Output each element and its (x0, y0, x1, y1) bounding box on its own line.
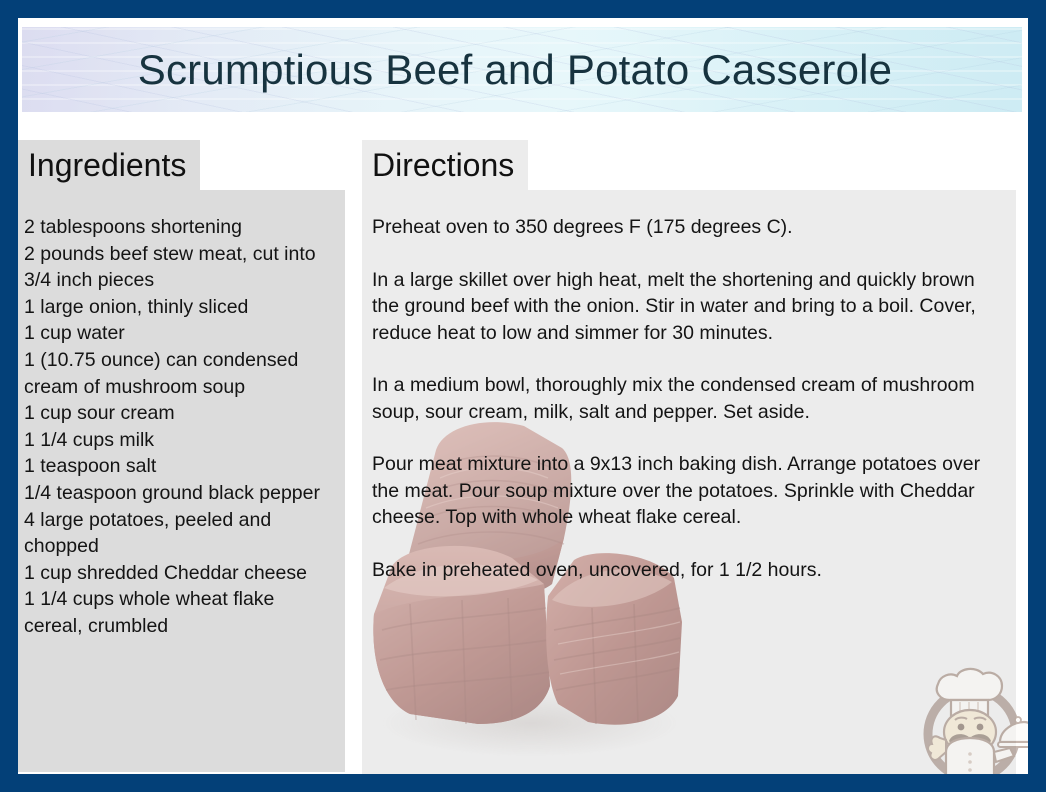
direction-step: Preheat oven to 350 degrees F (175 degre… (372, 214, 1004, 241)
list-item: 1/4 teaspoon ground black pepper (24, 480, 337, 507)
list-item: 1 large onion, thinly sliced (24, 294, 337, 321)
recipe-slide: Scrumptious Beef and Potato Casserole In… (0, 0, 1046, 792)
list-item: 1 1/4 cups whole wheat flake cereal, cru… (24, 586, 337, 639)
page-title: Scrumptious Beef and Potato Casserole (22, 46, 1008, 94)
list-item: 1 cup sour cream (24, 400, 337, 427)
list-item: 1 teaspoon salt (24, 453, 337, 480)
directions-heading: Directions (362, 140, 528, 190)
list-item: 2 tablespoons shortening (24, 214, 337, 241)
direction-step: Pour meat mixture into a 9x13 inch bakin… (372, 451, 1004, 531)
list-item: 1 (10.75 ounce) can condensed cream of m… (24, 347, 337, 400)
direction-step: In a medium bowl, thoroughly mix the con… (372, 372, 1004, 425)
ingredients-list: 2 tablespoons shortening 2 pounds beef s… (24, 214, 337, 640)
list-item: 1 cup shredded Cheddar cheese (24, 560, 337, 587)
list-item: 2 pounds beef stew meat, cut into 3/4 in… (24, 241, 337, 294)
directions-panel: Preheat oven to 350 degrees F (175 degre… (362, 190, 1016, 778)
ingredients-panel: 2 tablespoons shortening 2 pounds beef s… (18, 190, 345, 772)
ingredients-heading: Ingredients (18, 140, 200, 190)
title-banner: Scrumptious Beef and Potato Casserole (22, 27, 1022, 112)
list-item: 1 cup water (24, 320, 337, 347)
slide-content-area: Scrumptious Beef and Potato Casserole In… (18, 18, 1028, 774)
list-item: 1 1/4 cups milk (24, 427, 337, 454)
direction-step: In a large skillet over high heat, melt … (372, 267, 1004, 347)
list-item: 4 large potatoes, peeled and chopped (24, 507, 337, 560)
directions-steps: Preheat oven to 350 degrees F (175 degre… (372, 214, 1004, 583)
direction-step: Bake in preheated oven, uncovered, for 1… (372, 557, 1004, 584)
